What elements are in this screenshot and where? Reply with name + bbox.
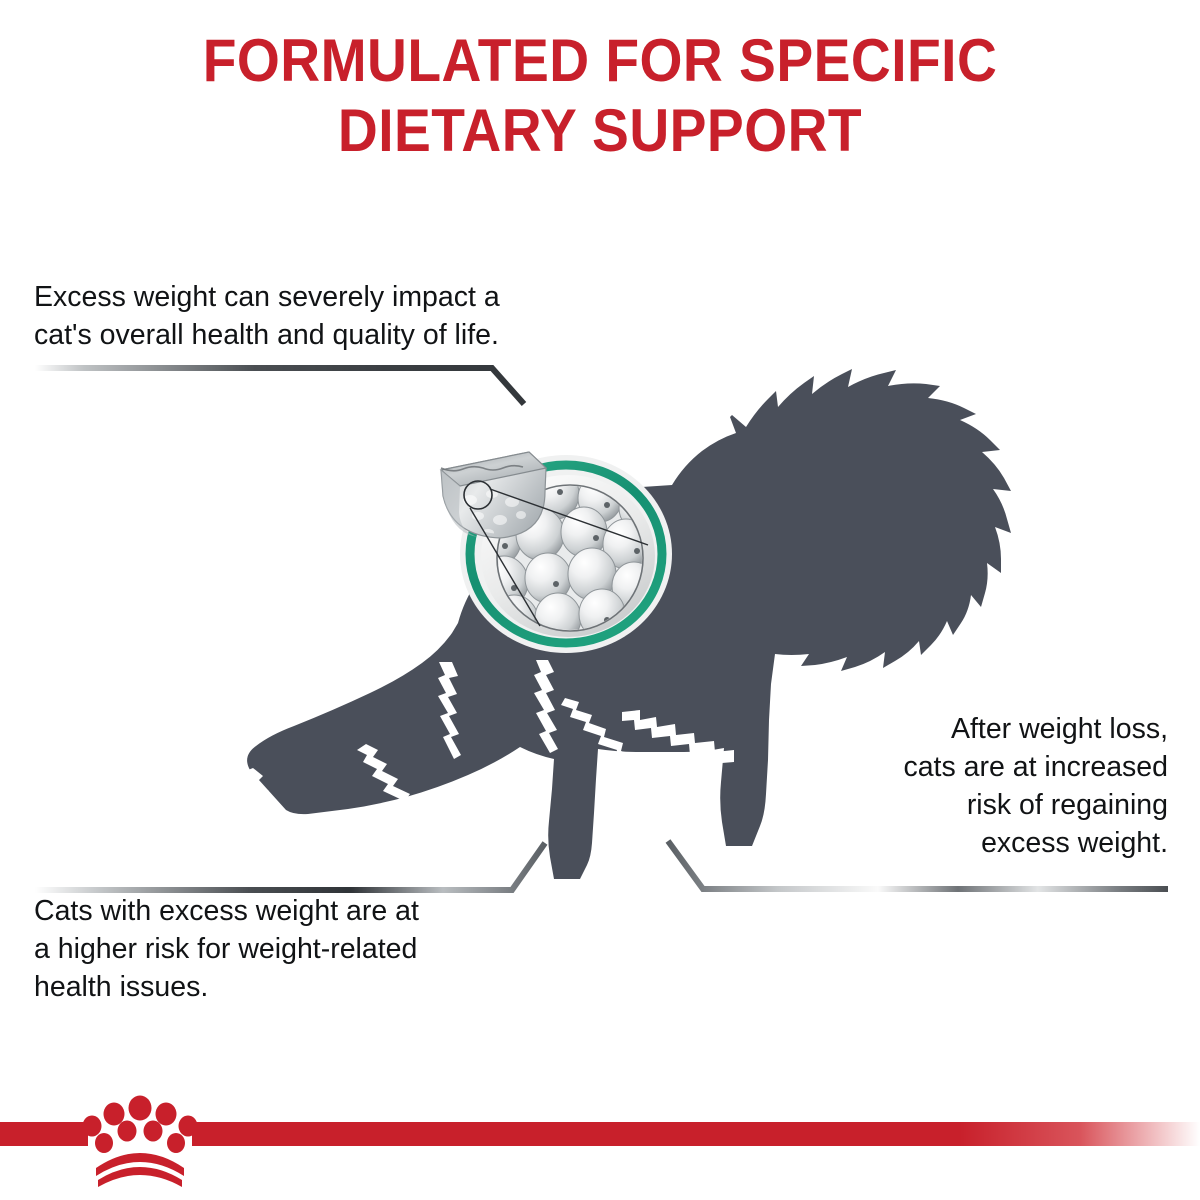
wedge-focus-circle bbox=[464, 481, 492, 509]
fat-cells-group bbox=[475, 469, 664, 648]
magnifier-gray-ring bbox=[481, 475, 655, 637]
magnifier-inner-border bbox=[497, 485, 643, 631]
skin-cross-section-wedge bbox=[441, 452, 648, 626]
connector-bottom-left bbox=[35, 843, 545, 890]
callout-weight-regain-risk: After weight loss, cats are at increased… bbox=[708, 710, 1168, 862]
page-title: FORMULATED FOR SPECIFIC DIETARY SUPPORT bbox=[48, 26, 1152, 166]
leader-line-upper bbox=[490, 489, 648, 545]
magnifier-halo bbox=[460, 455, 672, 653]
poster-canvas: FORMULATED FOR SPECIFIC DIETARY SUPPORT bbox=[0, 0, 1200, 1200]
callout-health-issues-risk: Cats with excess weight are at a higher … bbox=[34, 892, 594, 1006]
cat-fur-notches bbox=[243, 660, 734, 817]
illustration-layer bbox=[0, 0, 1200, 1200]
callout-excess-weight-impact: Excess weight can severely impact a cat'… bbox=[34, 278, 634, 354]
brand-band bbox=[0, 1090, 1200, 1200]
connector-top-left bbox=[35, 368, 524, 404]
leader-line-lower bbox=[470, 508, 540, 626]
magnifier-green-ring bbox=[470, 465, 662, 643]
